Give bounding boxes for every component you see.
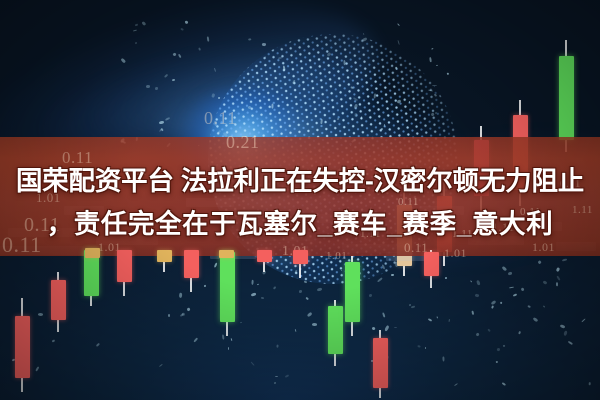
banner-image: 0.110.111.010.111.111.010.110.211.011.01… — [0, 0, 600, 400]
headline-line-2: ，责任完全在于瓦塞尔_赛车_赛季_意大利 — [6, 203, 594, 246]
headline: 国荣配资平台 法拉利正在失控-汉密尔顿无力阻止 ，责任完全在于瓦塞尔_赛车_赛季… — [0, 160, 600, 246]
headline-line-1: 国荣配资平台 法拉利正在失控-汉密尔顿无力阻止 — [6, 160, 594, 203]
